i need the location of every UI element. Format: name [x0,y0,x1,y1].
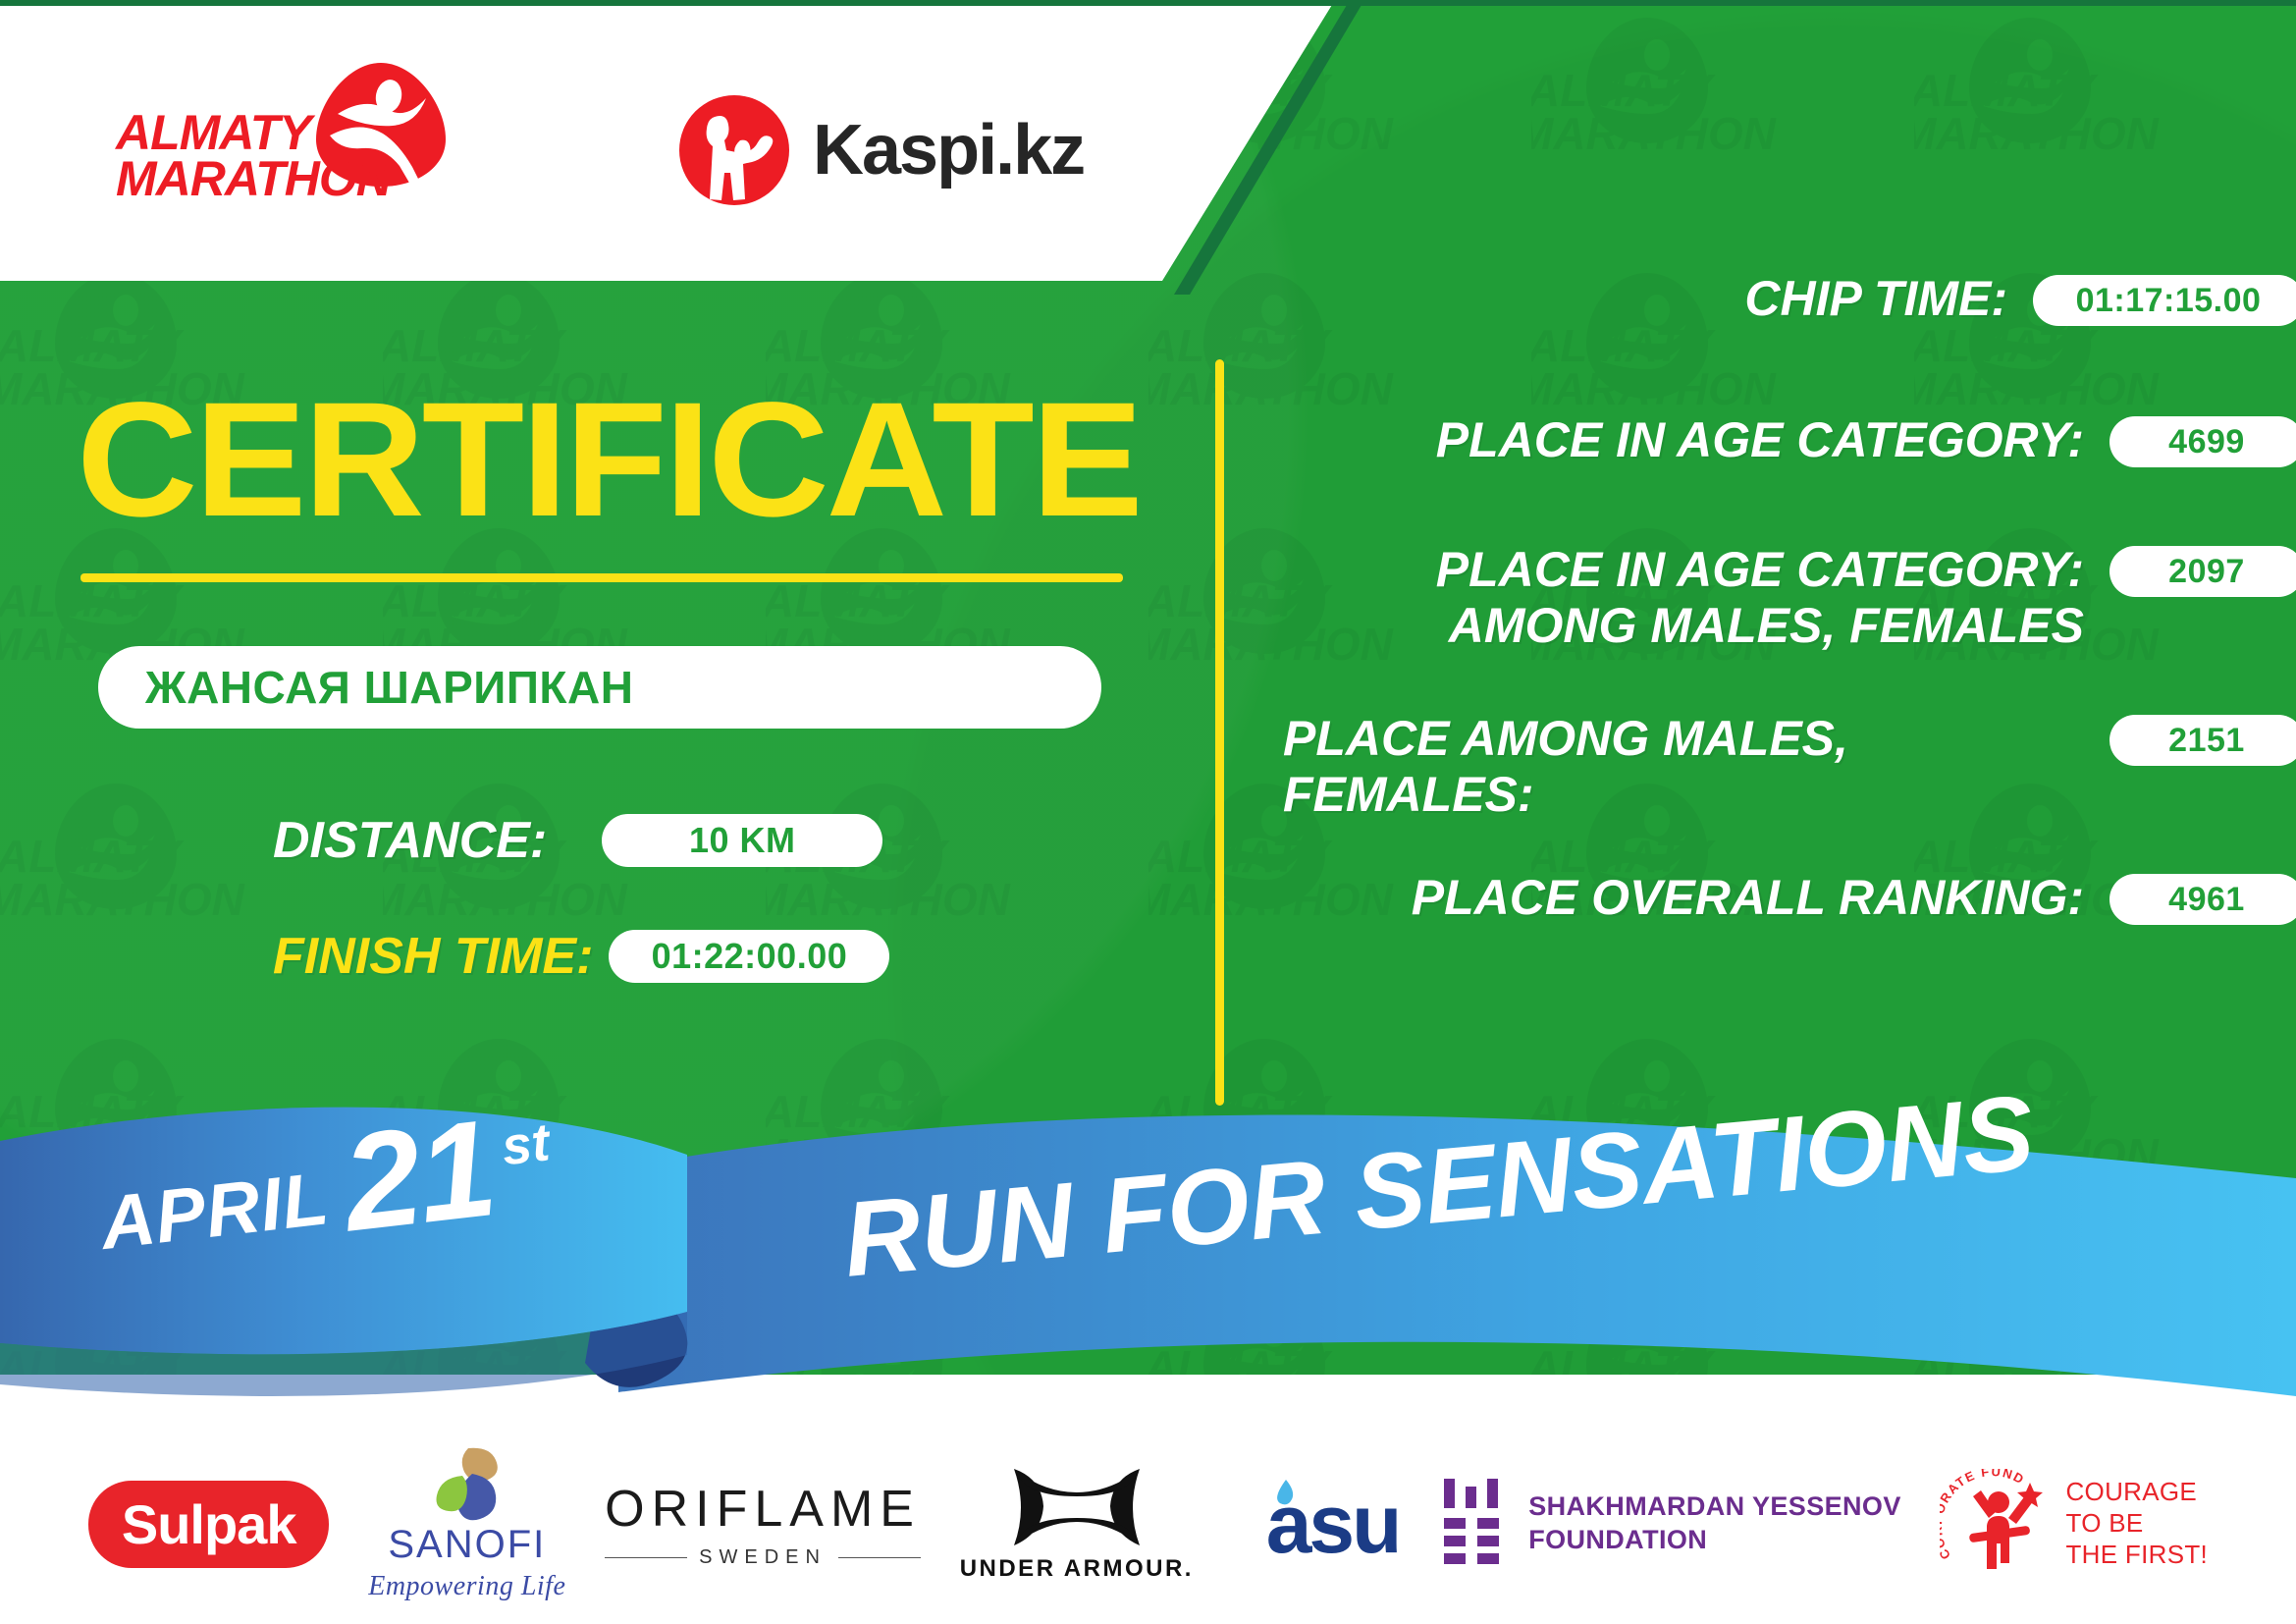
finish-time-value: 01:22:00.00 [609,930,889,983]
corporate-fund-wordmark: COURAGE TO BE THE FIRST! [2065,1477,2208,1570]
yessenov-bars-icon [1438,1477,1509,1571]
place-age-category-gender-row: PLACE IN AGE CATEGORY: AMONG MALES, FEMA… [1283,542,2296,653]
place-age-category-label: PLACE IN AGE CATEGORY: [1283,412,2109,468]
chip-time-row: CHIP TIME: 01:17:15.00 [1283,271,2296,327]
oriflame-sweden-text: SWEDEN [699,1546,827,1569]
label-line-2: FEMALES: [1283,767,1534,822]
label-line-1: PLACE AMONG MALES, [1283,711,1848,766]
logo-line-marathon: MARATHON [116,156,391,202]
sponsor-bar: Sulpak SANOFI Empowering Life ORIFLAME S… [0,1424,2296,1624]
chip-time-value: 01:17:15.00 [2033,275,2296,326]
yessenov-line-1: SHAKHMARDAN YESSENOV [1528,1491,1901,1521]
sanofi-tagline: Empowering Life [368,1571,565,1602]
page-title: CERTIFICATE [77,379,1141,542]
sponsor-asu: asu [1233,1477,1400,1572]
certificate-page: ALMATY MARATHON ALMATY MARATHON [0,0,2296,1624]
yessenov-line-2: FOUNDATION [1528,1525,1707,1554]
yessenov-wordmark: SHAKHMARDAN YESSENOV FOUNDATION [1528,1490,1901,1557]
corporate-fund-runner-icon: CORPORATE FUND [1940,1469,2056,1579]
distance-value: 10 KM [602,814,882,867]
almaty-marathon-wordmark: ALMATY MARATHON [116,110,391,202]
place-among-gender-value: 2151 [2109,715,2296,766]
label-line-2: AMONG MALES, FEMALES [1449,598,2084,653]
sponsor-oriflame: ORIFLAME SWEDEN [605,1480,921,1569]
place-age-category-row: PLACE IN AGE CATEGORY: 4699 [1283,412,2296,468]
finish-time-label: FINISH TIME: [273,927,593,986]
place-overall-ranking-row: PLACE OVERALL RANKING: 4961 [1283,870,2296,926]
kaspi-wordmark: Kaspi.kz [813,110,1084,190]
place-age-category-gender-label: PLACE IN AGE CATEGORY: AMONG MALES, FEMA… [1283,542,2109,653]
under-armour-icon [1010,1465,1144,1549]
header-logos: ALMATY MARATHON Kaspi.kz [0,0,1335,281]
sulpak-logo: Sulpak [88,1481,330,1568]
rule-right [838,1557,921,1558]
athlete-name-value: ЖАНСАЯ ШАРИПКАН [145,661,633,714]
oriflame-wordmark: ORIFLAME [605,1480,921,1539]
almaty-marathon-logo: ALMATY MARATHON [116,61,440,208]
place-age-category-gender-value: 2097 [2109,546,2296,597]
sponsor-sulpak: Sulpak [88,1481,330,1568]
sponsor-corporate-fund: CORPORATE FUND COURAGE TO BE THE FIRST! [1940,1469,2208,1579]
asu-wordmark: asu [1266,1477,1400,1572]
event-day: 21 [339,1112,499,1238]
logo-line-almaty: ALMATY [116,110,391,156]
event-day-ordinal: st [499,1111,553,1177]
place-overall-ranking-value: 4961 [2109,874,2296,925]
place-among-gender-label: PLACE AMONG MALES, FEMALES: [1283,711,2109,822]
label-line-1: PLACE IN AGE CATEGORY: [1436,542,2084,597]
kaspi-people-circle-icon [677,93,791,207]
finish-time-row: FINISH TIME: 01:22:00.00 [273,927,889,986]
courage-line-3: THE FIRST! [2065,1540,2208,1569]
sponsor-sanofi: SANOFI Empowering Life [368,1446,565,1602]
rule-left [605,1557,687,1558]
sponsor-under-armour: UNDER ARMOUR. [960,1465,1194,1583]
sanofi-leaf-icon [429,1446,506,1521]
distance-label: DISTANCE: [273,811,547,870]
under-armour-wordmark: UNDER ARMOUR. [960,1555,1194,1583]
sponsor-yessenov-foundation: SHAKHMARDAN YESSENOV FOUNDATION [1438,1477,1901,1571]
distance-row: DISTANCE: 10 KM [273,811,882,870]
chip-time-label: CHIP TIME: [1283,271,2033,327]
column-divider [1215,359,1224,1106]
kaspi-logo: Kaspi.kz [677,93,1084,207]
place-age-category-value: 4699 [2109,416,2296,467]
oriflame-subline: SWEDEN [605,1546,921,1569]
courage-line-1: COURAGE [2065,1477,2197,1506]
title-underline [80,573,1123,582]
athlete-name-field: ЖАНСАЯ ШАРИПКАН [98,646,1101,729]
place-overall-ranking-label: PLACE OVERALL RANKING: [1283,870,2109,926]
sanofi-wordmark: SANOFI [388,1523,546,1567]
place-among-gender-row: PLACE AMONG MALES, FEMALES: 2151 [1283,711,2296,822]
courage-line-2: TO BE [2065,1508,2143,1538]
sulpak-wordmark: Sulpak [122,1493,296,1555]
